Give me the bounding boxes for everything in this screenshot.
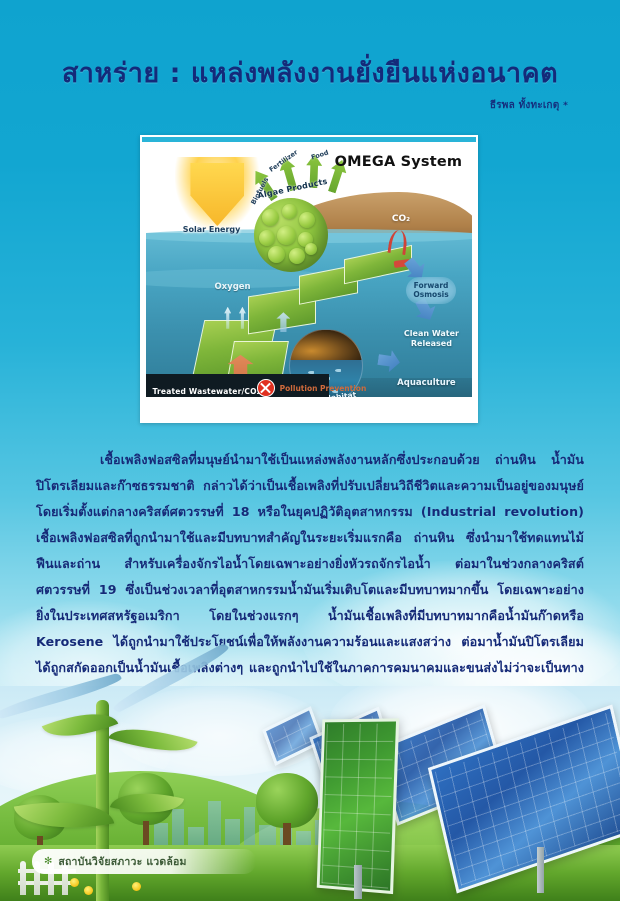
panel-cell-grid [322,724,394,889]
sun-icon [175,157,259,231]
title-block: สาหร่าย : แหล่งพลังงานยั่งยืนแห่งอนาคต ธ… [0,58,620,113]
solar-energy-label: Solar Energy [166,225,258,234]
flower [70,878,79,887]
aquaculture-label: Aquaculture [397,378,456,388]
body-paragraph: เชื้อเพลิงฟอสซิลที่มนุษย์นำมาใช้เป็นแหล่… [36,447,584,710]
tree [256,773,318,849]
pollution-prevention-label: Pollution Prevention [280,384,367,393]
flower [84,886,93,895]
solar-panel-leg [537,847,544,893]
clean-water-released-label: Clean Water Released [404,329,459,350]
algae-sphere-icon [254,198,328,272]
oxygen-label: Oxygen [214,282,250,292]
fence-post [20,861,26,895]
treated-wastewater-label: Treated Wastewater/CO₂ [153,387,261,396]
footer-organization-badge: ✻ สถาบันวิจัยสภาวะ แวดล้อม [32,849,256,874]
figure-top-accent-bar [142,137,476,142]
body-paragraph-text: เชื้อเพลิงฟอสซิลที่มนุษย์นำมาใช้เป็นแหล่… [36,452,584,704]
article-body: เชื้อเพลิงฟอสซิลที่มนุษย์นำมาใช้เป็นแหล่… [36,447,584,710]
forward-osmosis-label-line2: Osmosis [413,290,448,299]
figure-canvas: Solar Energy Biofuels Fertilizer Food [146,143,472,416]
byline: ธีรพล ทั้งทะเกตุ * [0,98,620,113]
page-root: สาหร่าย : แหล่งพลังงานยั่งยืนแห่งอนาคต ธ… [0,0,620,901]
fish-icon [335,369,341,372]
no-pollution-icon [257,379,275,397]
algae-cell [262,209,279,226]
flower [132,882,141,891]
tree-crown [256,773,318,828]
author-name: ธีรพล ทั้งทะเกตุ [490,100,559,111]
algae-cell [282,204,297,219]
page-title: สาหร่าย : แหล่งพลังงานยั่งยืนแห่งอนาคต [0,58,620,89]
algae-cell [289,248,305,264]
forward-osmosis-label-line1: Forward [414,281,449,290]
omega-system-figure: Solar Energy Biofuels Fertilizer Food [140,135,478,423]
organization-name: สถาบันวิจัยสภาวะ แวดล้อม [58,853,186,870]
clean-water-label-line1: Clean Water [404,329,459,338]
asterisk-icon: ✻ [44,857,52,867]
coral-reef [290,330,362,360]
algae-cell [305,243,317,255]
figure-bottom-bar [146,397,472,416]
clean-water-label-line2: Released [411,339,452,348]
solar-panel-post [354,865,362,899]
author-footnote-mark: * [563,101,568,111]
algae-cell [268,246,285,263]
figure-system-title: OMEGA System [335,154,463,170]
algae-cell [277,226,296,245]
solar-panel-green [318,719,396,891]
algae-cell [259,230,275,246]
forward-osmosis-label: Forward Osmosis [406,277,455,304]
tree-trunk [143,821,150,845]
co2-label: CO₂ [392,214,410,224]
algae-cell [299,212,315,228]
